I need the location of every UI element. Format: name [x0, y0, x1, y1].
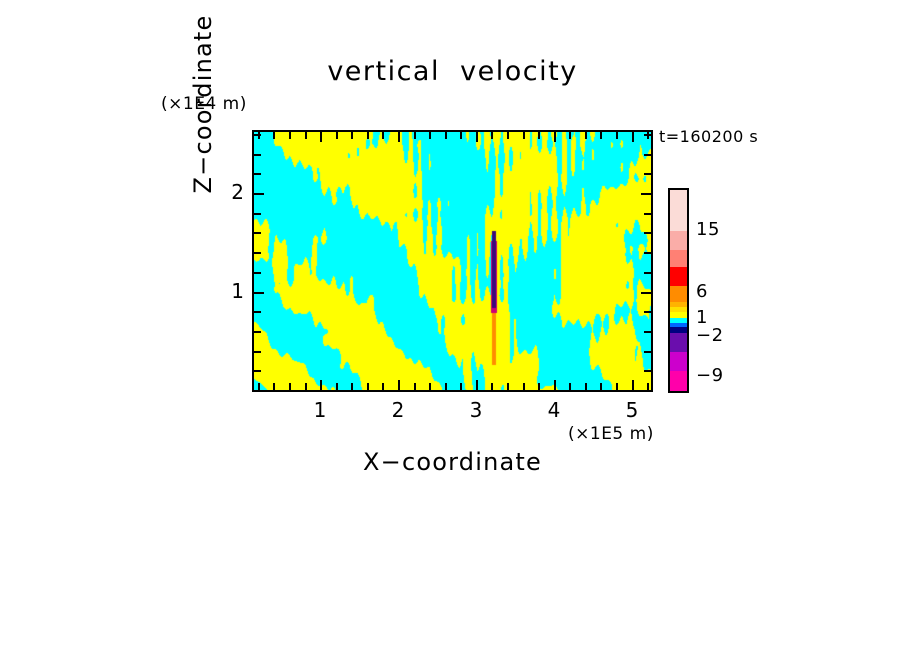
x-tick-label: 3	[456, 398, 496, 422]
x-minor-tick	[289, 383, 291, 390]
x-major-tick	[632, 380, 634, 390]
y-minor-tick-right	[644, 272, 651, 274]
x-major-tick	[554, 380, 556, 390]
colorbar-label: −9	[696, 365, 724, 386]
y-major-tick	[254, 292, 264, 294]
colorbar-band	[670, 352, 687, 371]
x-minor-tick	[429, 383, 431, 390]
x-minor-tick-top	[273, 132, 275, 139]
colorbar-band	[670, 231, 687, 250]
y-minor-tick-right	[644, 213, 651, 215]
x-minor-tick	[414, 383, 416, 390]
x-minor-tick	[351, 383, 353, 390]
x-minor-tick-top	[305, 132, 307, 139]
colorbar-band	[670, 190, 687, 232]
velocity-field-heatmap	[254, 132, 651, 390]
x-minor-tick-top	[336, 132, 338, 139]
x-minor-tick-top	[523, 132, 525, 139]
colorbar-band	[670, 286, 687, 302]
colorbar-legend	[668, 188, 689, 393]
x-axis-unit-label: (×1E5 m)	[568, 424, 654, 444]
y-minor-tick-right	[644, 331, 651, 333]
y-minor-tick	[254, 134, 261, 136]
page-title: vertical velocity	[252, 56, 653, 87]
y-minor-tick	[254, 331, 261, 333]
y-axis-title: Z−coordinate	[186, 9, 220, 199]
colorbar-band	[670, 267, 687, 286]
x-major-tick-top	[632, 132, 634, 142]
y-major-tick-right	[641, 193, 651, 195]
x-axis-title: X−coordinate	[252, 448, 653, 476]
x-major-tick	[476, 380, 478, 390]
colorbar-band	[670, 333, 687, 352]
x-major-tick	[320, 380, 322, 390]
y-major-tick-right	[641, 292, 651, 294]
x-minor-tick	[507, 383, 509, 390]
x-minor-tick	[569, 383, 571, 390]
y-tick-label: 1	[214, 279, 244, 303]
y-minor-tick	[254, 252, 261, 254]
x-minor-tick-top	[382, 132, 384, 139]
x-minor-tick-top	[600, 132, 602, 139]
x-tick-label: 4	[534, 398, 574, 422]
colorbar-label: 15	[696, 219, 720, 240]
x-minor-tick-top	[460, 132, 462, 139]
y-minor-tick-right	[644, 232, 651, 234]
y-minor-tick	[254, 173, 261, 175]
x-major-tick-top	[398, 132, 400, 142]
contour-plot-area	[252, 130, 653, 392]
x-minor-tick	[258, 383, 260, 390]
x-minor-tick	[445, 383, 447, 390]
x-minor-tick	[367, 383, 369, 390]
y-minor-tick-right	[644, 154, 651, 156]
x-minor-tick	[273, 383, 275, 390]
x-minor-tick	[336, 383, 338, 390]
y-minor-tick	[254, 272, 261, 274]
x-minor-tick-top	[351, 132, 353, 139]
x-minor-tick	[523, 383, 525, 390]
x-minor-tick	[305, 383, 307, 390]
x-minor-tick-top	[429, 132, 431, 139]
x-tick-label: 5	[612, 398, 652, 422]
x-minor-tick-top	[367, 132, 369, 139]
x-tick-label: 1	[300, 398, 340, 422]
y-minor-tick-right	[644, 134, 651, 136]
x-minor-tick-top	[445, 132, 447, 139]
x-minor-tick-top	[491, 132, 493, 139]
colorbar-label: −2	[696, 325, 724, 346]
figure-canvas: vertical velocity (×1E4 m) t=160200 s 12…	[0, 0, 904, 654]
time-annotation: t=160200 s	[659, 127, 758, 146]
x-tick-label: 2	[378, 398, 418, 422]
y-minor-tick	[254, 213, 261, 215]
x-minor-tick	[647, 383, 649, 390]
x-minor-tick	[616, 383, 618, 390]
x-major-tick-top	[320, 132, 322, 142]
x-minor-tick-top	[414, 132, 416, 139]
colorbar-band	[670, 371, 687, 391]
y-major-tick	[254, 193, 264, 195]
x-minor-tick-top	[289, 132, 291, 139]
y-minor-tick-right	[644, 370, 651, 372]
x-minor-tick-top	[538, 132, 540, 139]
y-minor-tick-right	[644, 351, 651, 353]
x-major-tick-top	[476, 132, 478, 142]
x-minor-tick-top	[585, 132, 587, 139]
x-major-tick	[398, 380, 400, 390]
colorbar-band	[670, 250, 687, 268]
x-minor-tick	[585, 383, 587, 390]
x-minor-tick	[382, 383, 384, 390]
y-minor-tick-right	[644, 311, 651, 313]
y-minor-tick	[254, 351, 261, 353]
x-minor-tick	[491, 383, 493, 390]
y-minor-tick	[254, 311, 261, 313]
x-minor-tick	[460, 383, 462, 390]
y-minor-tick-right	[644, 173, 651, 175]
y-minor-tick	[254, 232, 261, 234]
colorbar-label: 6	[696, 281, 708, 302]
y-minor-tick-right	[644, 252, 651, 254]
x-minor-tick-top	[569, 132, 571, 139]
y-minor-tick	[254, 154, 261, 156]
y-minor-tick	[254, 370, 261, 372]
x-minor-tick-top	[507, 132, 509, 139]
x-minor-tick-top	[616, 132, 618, 139]
x-minor-tick	[600, 383, 602, 390]
x-minor-tick	[538, 383, 540, 390]
x-major-tick-top	[554, 132, 556, 142]
